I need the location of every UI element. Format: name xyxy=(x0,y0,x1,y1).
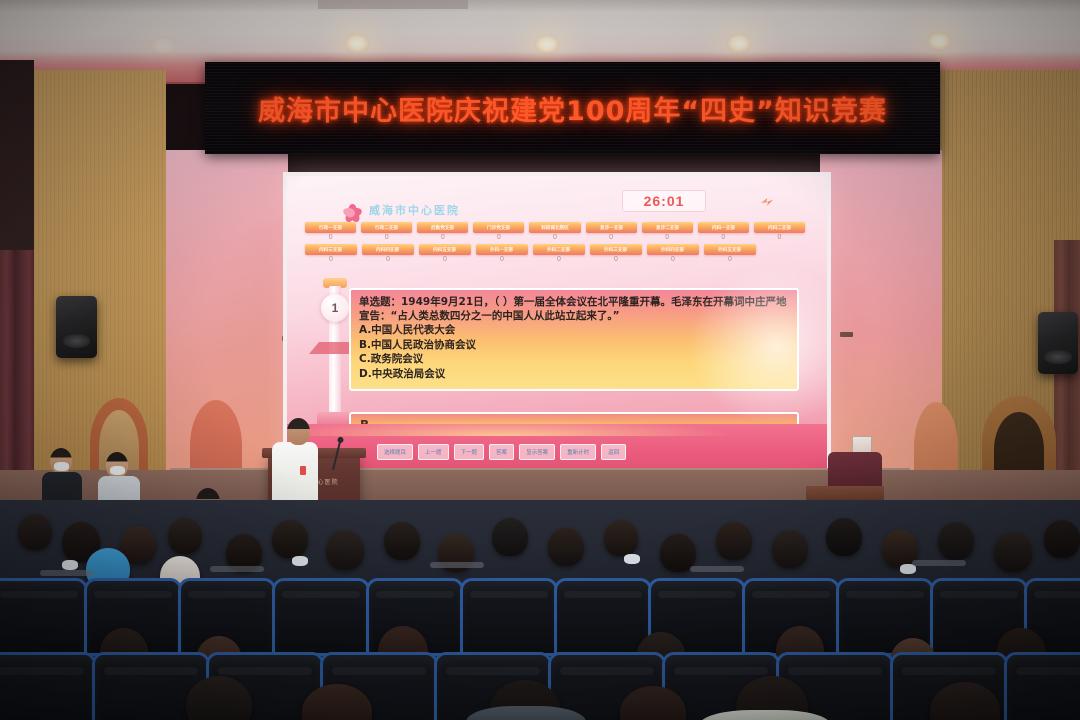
team-score: 0 xyxy=(529,234,580,241)
auditorium-seat[interactable] xyxy=(554,578,652,656)
auditorium-seat[interactable] xyxy=(0,578,88,656)
team-score: 0 xyxy=(698,234,749,241)
audience-head xyxy=(272,520,308,558)
countdown-timer: 26:01 xyxy=(622,190,706,212)
spark-decor-icon xyxy=(761,198,773,206)
face-mask xyxy=(624,554,640,564)
team-item[interactable]: 急诊一支部0 xyxy=(586,222,637,241)
team-name: 内科二支部 xyxy=(768,224,791,230)
ceiling-downlight xyxy=(926,31,952,51)
question-number-badge: 1 xyxy=(321,294,349,322)
auditorium-seat[interactable] xyxy=(460,578,558,656)
team-item[interactable]: 门诊党支部0 xyxy=(473,222,524,241)
speaker-body xyxy=(272,442,318,504)
seat-armrest xyxy=(430,562,484,568)
auditorium-seat[interactable] xyxy=(1004,652,1080,720)
team-score: 0 xyxy=(419,256,471,263)
team-item[interactable]: 外科二支部0 xyxy=(533,244,585,263)
team-score: 0 xyxy=(533,256,585,263)
slide-logo-text: 威海市中心医院 xyxy=(369,202,460,218)
audience-head xyxy=(384,522,420,560)
auditorium-scene: 威海市中心医院庆祝建党100周年“四史”知识竞赛 威海市中心医院 26:01 行… xyxy=(0,0,1080,720)
face-mask xyxy=(292,556,308,566)
audience-head xyxy=(604,520,638,556)
control-button[interactable]: 下一题 xyxy=(454,444,485,460)
face-mask xyxy=(110,466,125,475)
team-score: 0 xyxy=(704,256,756,263)
team-score: 0 xyxy=(361,234,412,241)
question-card: 单选题：1949年9月21日，（ ）第一届全体会议在北平隆重开幕。毛泽东在开幕词… xyxy=(349,288,799,391)
audience-head xyxy=(772,530,808,568)
team-item[interactable]: 行政一支部0 xyxy=(305,222,356,241)
audience-head xyxy=(548,528,584,566)
auditorium-seat[interactable] xyxy=(272,578,370,656)
team-item[interactable]: 外科三支部0 xyxy=(590,244,642,263)
team-item[interactable]: 内科五支部0 xyxy=(419,244,471,263)
team-name: 后勤党支部 xyxy=(431,224,454,230)
audience-head xyxy=(826,518,862,556)
audience-head xyxy=(18,514,52,550)
ceiling-downlight xyxy=(344,33,370,53)
team-score: 0 xyxy=(642,234,693,241)
ceiling-downlight xyxy=(534,34,560,54)
team-score: 0 xyxy=(473,234,524,241)
team-name: 内科三支部 xyxy=(319,246,342,252)
team-name: 内科五支部 xyxy=(433,246,456,252)
ceiling-downlight xyxy=(726,33,752,53)
team-name: 外科五支部 xyxy=(718,246,741,252)
control-button[interactable]: 上一题 xyxy=(418,444,449,460)
control-button[interactable]: 显示答案 xyxy=(519,444,555,460)
team-name: 外科四支部 xyxy=(661,246,684,252)
projection-screen: 威海市中心医院 26:01 行政一支部0 行政二支部0 后勤党支部0 门诊党支部… xyxy=(287,176,827,476)
right-wall-sconce xyxy=(840,332,853,337)
team-name: 行政一支部 xyxy=(319,224,342,230)
team-row-2: 内科三支部0 内科四支部0 内科五支部0 外科一支部0 外科二支部0 外科三支部… xyxy=(305,244,805,263)
team-item[interactable]: 外科四支部0 xyxy=(647,244,699,263)
team-item[interactable]: 内科四支部0 xyxy=(362,244,414,263)
team-item[interactable]: 内科一支部0 xyxy=(698,222,749,241)
option-c: C.政务院会议 xyxy=(359,352,789,366)
slide-hospital-logo: 威海市中心医院 xyxy=(341,200,460,220)
audience-area xyxy=(0,500,1080,720)
team-item[interactable]: 行政二支部0 xyxy=(361,222,412,241)
team-item[interactable]: 急诊二支部0 xyxy=(642,222,693,241)
speaker-head xyxy=(287,418,310,445)
team-name: 内科四支部 xyxy=(376,246,399,252)
question-stem: 单选题：1949年9月21日，（ ）第一届全体会议在北平隆重开幕。毛泽东在开幕词… xyxy=(359,295,789,323)
flower-emblem-icon xyxy=(341,200,363,220)
control-button[interactable]: 选择题目 xyxy=(377,444,413,460)
face-mask xyxy=(62,560,78,570)
team-name: 门诊党支部 xyxy=(487,224,510,230)
team-score: 0 xyxy=(647,256,699,263)
team-score: 0 xyxy=(305,256,357,263)
audience-head xyxy=(938,522,974,560)
team-row-1: 行政一支部0 行政二支部0 后勤党支部0 门诊党支部0 科研城北院区0 急诊一支… xyxy=(305,222,805,241)
team-name: 科研城北院区 xyxy=(541,224,569,230)
team-item[interactable]: 外科一支部0 xyxy=(476,244,528,263)
audience-head xyxy=(716,522,752,560)
team-score: 0 xyxy=(754,234,805,241)
team-item[interactable]: 科研城北院区0 xyxy=(529,222,580,241)
team-name: 外科二支部 xyxy=(547,246,570,252)
seat-armrest xyxy=(690,566,744,572)
option-a: A.中国人民代表大会 xyxy=(359,323,789,337)
team-score: 0 xyxy=(586,234,637,241)
team-item[interactable]: 后勤党支部0 xyxy=(417,222,468,241)
right-wall-speaker xyxy=(1038,312,1078,374)
audience-head xyxy=(168,518,202,554)
seat-armrest xyxy=(210,566,264,572)
team-item[interactable]: 内科三支部0 xyxy=(305,244,357,263)
seat-armrest xyxy=(912,560,966,566)
control-button[interactable]: 答案 xyxy=(489,444,514,460)
left-wall-speaker xyxy=(56,296,97,358)
projection-screen-frame: 威海市中心医院 26:01 行政一支部0 行政二支部0 后勤党支部0 门诊党支部… xyxy=(283,172,831,480)
team-score: 0 xyxy=(305,234,356,241)
team-scoreboard: 行政一支部0 行政二支部0 后勤党支部0 门诊党支部0 科研城北院区0 急诊一支… xyxy=(305,222,805,266)
led-banner-text: 威海市中心医院庆祝建党100周年“四史”知识竞赛 xyxy=(205,89,940,128)
team-name: 行政二支部 xyxy=(375,224,398,230)
team-item[interactable]: 外科五支部0 xyxy=(704,244,756,263)
ceiling-seam xyxy=(0,0,1080,11)
audience-head xyxy=(1044,520,1080,558)
seat-armrest xyxy=(40,570,94,576)
option-d: D.中央政治局会议 xyxy=(359,367,789,381)
team-name: 急诊一支部 xyxy=(600,224,623,230)
auditorium-seat[interactable] xyxy=(0,652,96,720)
team-score: 0 xyxy=(362,256,414,263)
audience-head xyxy=(326,530,364,570)
team-item[interactable]: 内科二支部0 xyxy=(754,222,805,241)
speaker-badge xyxy=(300,466,306,475)
control-button[interactable]: 重新计时 xyxy=(560,444,596,460)
audience-head xyxy=(994,532,1032,572)
slide-control-bar: 选择题目 上一题 下一题 答案 显示答案 重新计时 返回 xyxy=(377,444,626,460)
team-name: 外科三支部 xyxy=(604,246,627,252)
ceiling-notch xyxy=(318,0,468,9)
team-score: 0 xyxy=(476,256,528,263)
control-button[interactable]: 返回 xyxy=(601,444,626,460)
audience-head xyxy=(492,518,528,556)
team-name: 外科一支部 xyxy=(490,246,513,252)
option-b: B.中国人民政治协商会议 xyxy=(359,338,789,352)
team-score: 0 xyxy=(417,234,468,241)
team-name: 急诊二支部 xyxy=(656,224,679,230)
led-banner: 威海市中心医院庆祝建党100周年“四史”知识竞赛 xyxy=(205,62,940,154)
face-mask xyxy=(54,462,69,471)
team-score: 0 xyxy=(590,256,642,263)
team-name: 内科一支部 xyxy=(712,224,735,230)
